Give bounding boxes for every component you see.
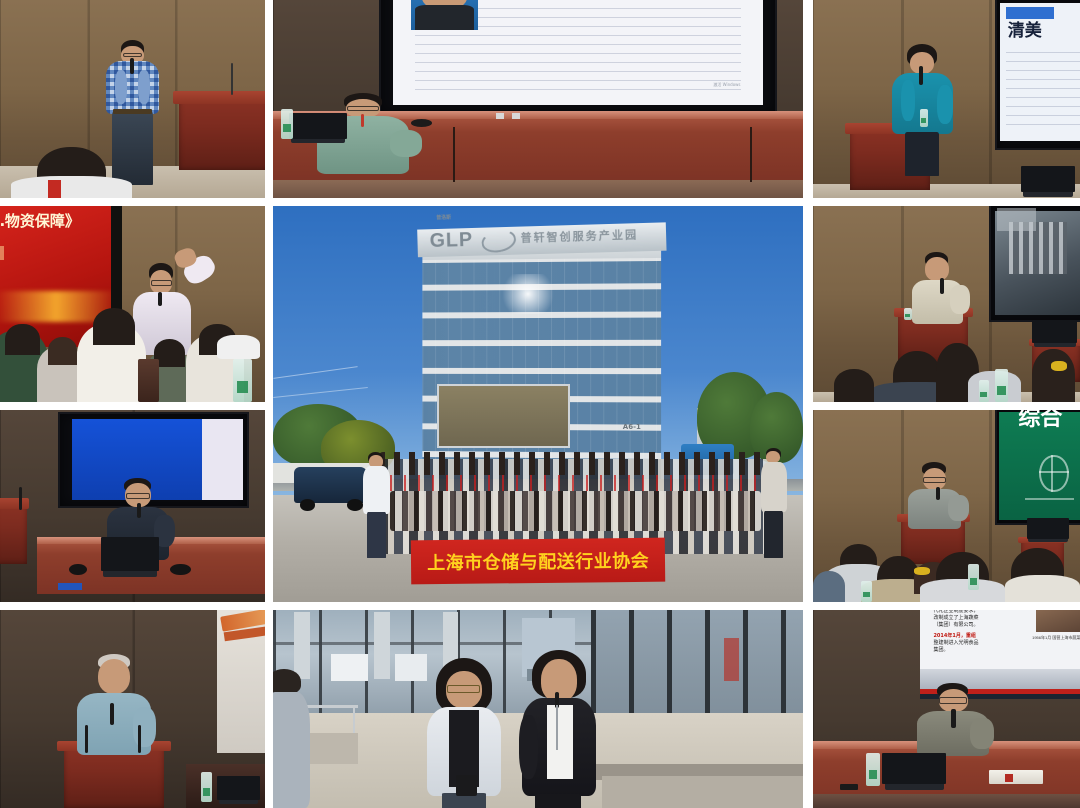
building-sign-chinese: 普轩智创服务产业园	[521, 229, 639, 244]
person-white-jacket	[427, 658, 501, 808]
photo-speaker-beige-polo-podium[interactable]	[813, 206, 1080, 402]
photo-speaker-checked-shirt[interactable]	[0, 0, 265, 198]
photo-group-photo-glp-building[interactable]: GLP 普洛斯 普轩智创服务产业园 A6-1	[273, 206, 803, 602]
projection-screen	[217, 610, 265, 753]
projection-screen: 综合	[995, 410, 1080, 525]
photo-collage: 主要研究方向。2007年博士毕业于日本国立富山大学，2007.4-2009.11…	[0, 0, 1080, 808]
building-block-label: A6-1	[623, 424, 641, 432]
photo-speaker-green-slide-audience[interactable]: 综合	[813, 410, 1080, 602]
projection-screen: 主要研究方向。2007年博士毕业于日本国立富山大学，2007.4-2009.11…	[379, 0, 777, 115]
slide-body-lines: 代化企业制度要求， 改制成立了上海蔬菜 （集团）有限公司。 2014年1月，重组…	[933, 610, 1008, 654]
building-sign-secondary: 普洛斯	[436, 215, 451, 221]
windows-watermark: 激活 Windows	[713, 83, 740, 87]
photo-presenter-with-bio-slide[interactable]: 主要研究方向。2007年博士毕业于日本国立富山大学，2007.4-2009.11…	[273, 0, 803, 198]
photo-two-women-outdoor-plaza[interactable]	[273, 610, 803, 808]
photo-presenter-company-history-slide[interactable]: 代化企业制度要求， 改制成立了上海蔬菜 （集团）有限公司。 2014年1月，重组…	[813, 610, 1080, 808]
projection-screen	[989, 206, 1080, 322]
slide-title-text: 清美	[1008, 22, 1042, 40]
slide-title-text: 综合	[1018, 410, 1062, 431]
person-black-blazer	[522, 650, 596, 808]
building-sign-primary: GLP	[429, 229, 473, 253]
slide-caption-text: 1956年1月 国营上海市蔬菜…	[1031, 635, 1080, 641]
photo-elderly-speaker-podium[interactable]	[0, 610, 265, 808]
projection-screen: 清美	[995, 0, 1080, 150]
photo-female-speaker-teal-polo[interactable]: 清美	[813, 0, 1080, 198]
photo-lecturer-red-slide-audience[interactable]: …物资保障》	[0, 206, 265, 402]
association-banner-text: 上海市仓储与配送行业协会	[427, 546, 649, 574]
association-banner: 上海市仓储与配送行业协会	[411, 537, 666, 583]
slide-title-text: …物资保障》	[0, 213, 80, 229]
photo-speaker-dark-polo-blue-screen[interactable]	[0, 410, 265, 602]
led-board	[437, 384, 570, 447]
